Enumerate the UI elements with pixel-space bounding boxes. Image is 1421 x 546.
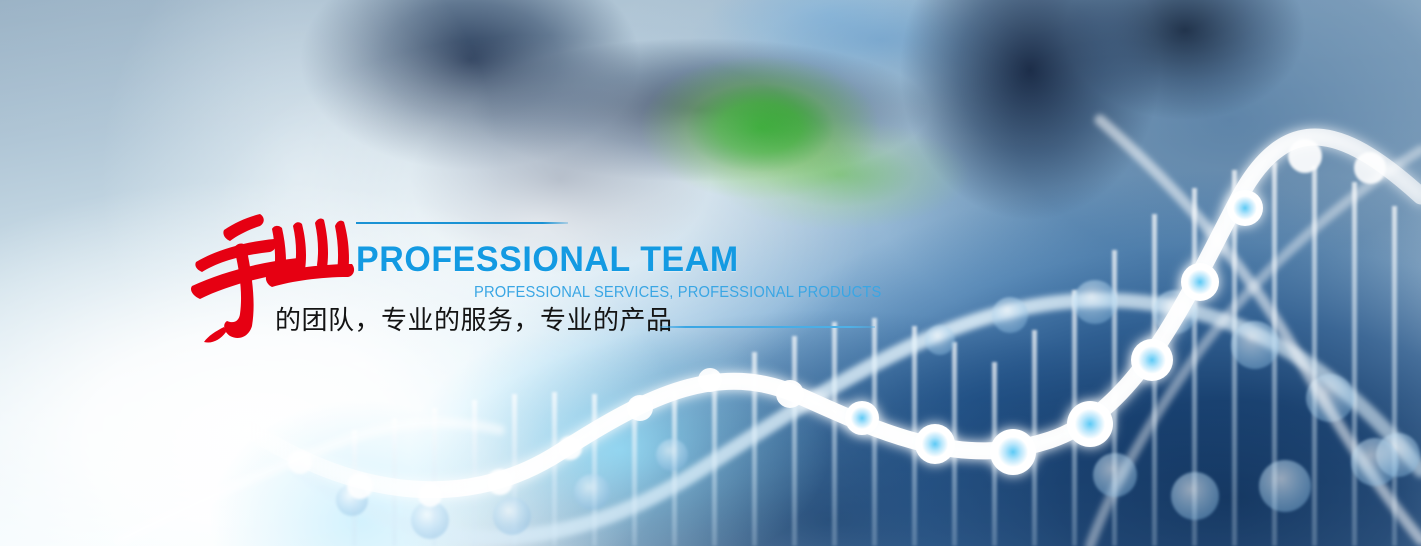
divider-rule-top xyxy=(356,222,568,224)
headline-professional-team: PROFESSIONAL TEAM xyxy=(356,242,739,277)
banner-copy-block: PROFESSIONAL TEAM PROFESSIONAL SERVICES,… xyxy=(0,0,1421,546)
hero-banner: PROFESSIONAL TEAM PROFESSIONAL SERVICES,… xyxy=(0,0,1421,546)
subheading-chinese: 的团队，专业的服务，专业的产品 xyxy=(275,306,673,337)
divider-rule-bottom xyxy=(660,326,875,328)
subheading-english: PROFESSIONAL SERVICES, PROFESSIONAL PROD… xyxy=(474,285,881,301)
